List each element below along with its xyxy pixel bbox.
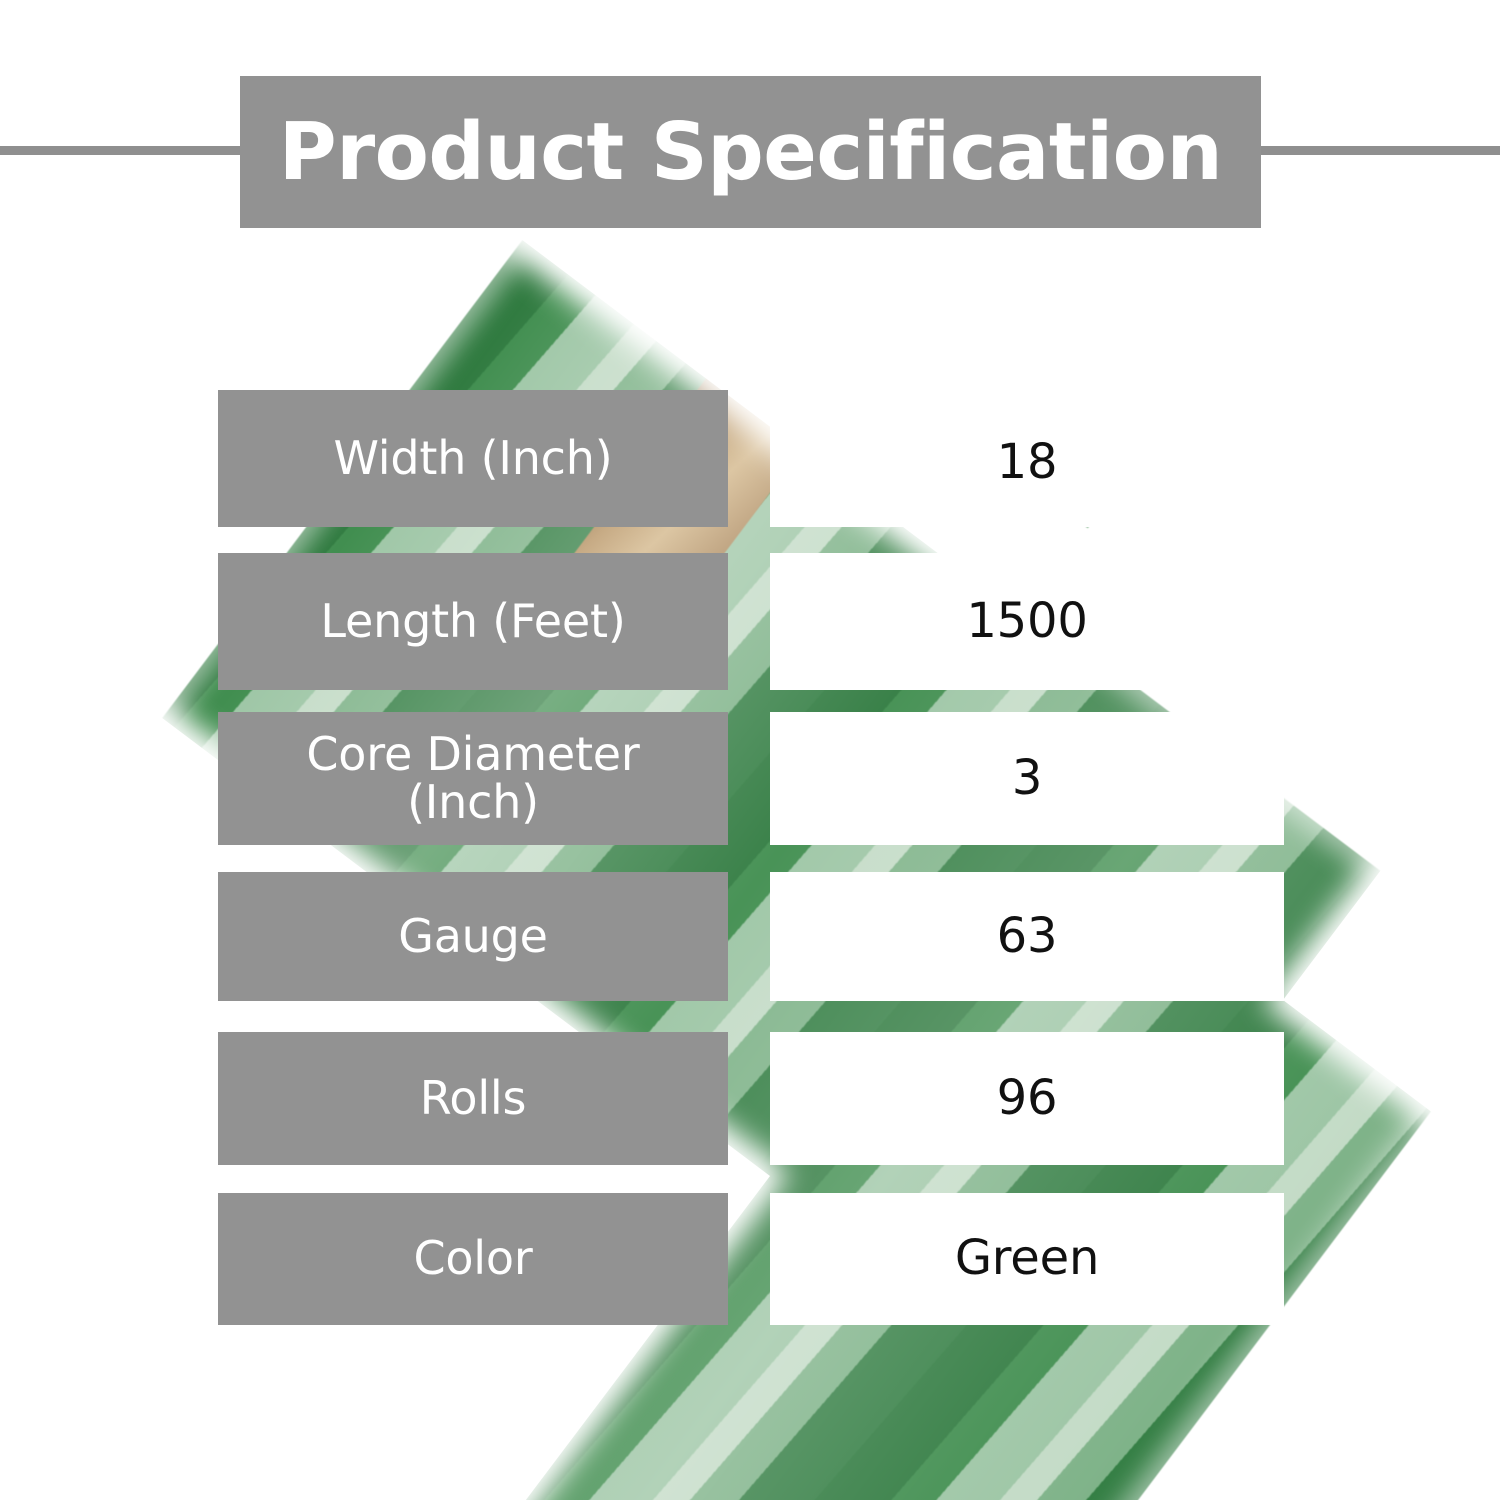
spec-value-gauge: 63 [770,872,1284,1001]
spec-label-text: Width (Inch) [334,435,613,483]
spec-value-rolls: 96 [770,1032,1284,1165]
spec-value-text: 18 [997,438,1058,488]
header-banner: Product Specification [240,76,1261,228]
page-title: Product Specification [279,113,1222,192]
spec-value-text: 96 [997,1074,1058,1124]
spec-value-length: 1500 [770,553,1284,690]
spec-value-text: 3 [1012,754,1042,804]
spec-label-line-2: (Inch) [306,779,639,827]
spec-label-text: Length (Feet) [320,598,625,646]
spec-label-gauge: Gauge [218,872,728,1001]
spec-value-color: Green [770,1193,1284,1325]
spec-value-width: 18 [770,398,1284,527]
spec-label-width: Width (Inch) [218,390,728,527]
spec-label-text: Core Diameter (Inch) [306,731,639,827]
spec-label-text: Gauge [398,913,548,961]
spec-label-length: Length (Feet) [218,553,728,690]
spec-label-rolls: Rolls [218,1032,728,1165]
spec-value-text: 1500 [966,597,1087,647]
spec-label-core-diameter: Core Diameter (Inch) [218,712,728,845]
spec-label-color: Color [218,1193,728,1325]
spec-value-text: Green [955,1234,1099,1284]
spec-value-core-diameter: 3 [770,712,1284,845]
spec-label-text: Rolls [420,1075,527,1123]
spec-label-text: Color [413,1235,532,1283]
product-specification-page: Product Specification Width (Inch) 18 Le… [0,0,1500,1500]
spec-label-line-1: Core Diameter [306,731,639,779]
spec-value-text: 63 [997,912,1058,962]
photo-mask-right [1283,0,1500,1500]
